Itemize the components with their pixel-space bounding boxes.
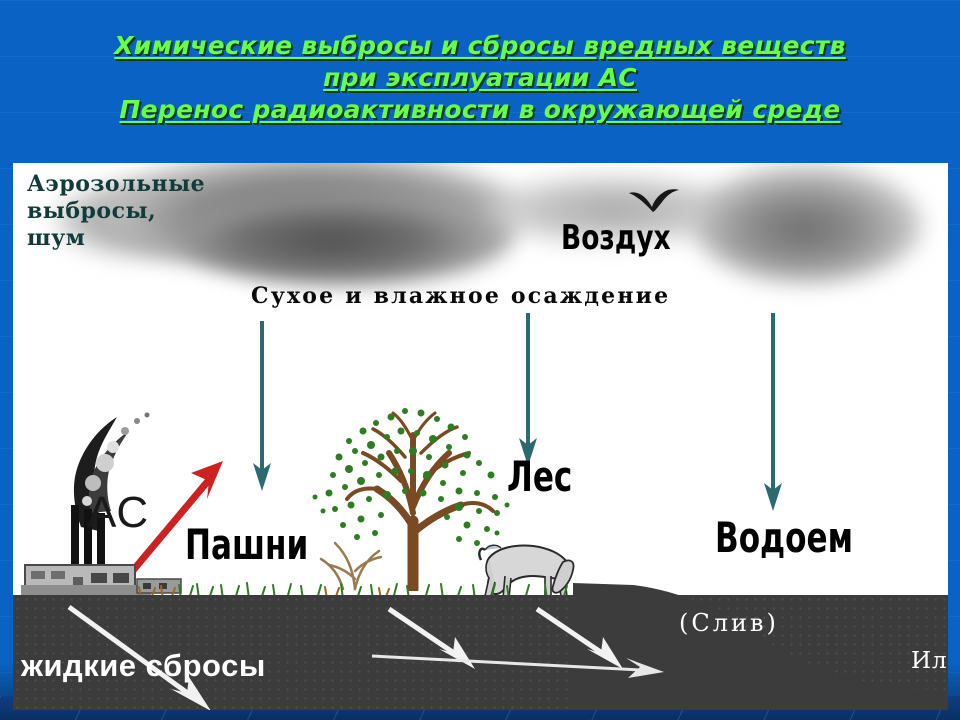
cloud-shape [693, 165, 923, 283]
label-water-body: Водоем [715, 513, 853, 562]
deposition-arrow-icon [760, 313, 786, 513]
deposition-arrow-icon [249, 321, 275, 493]
title-line-1: Химические выбросы и сбросы вредных веще… [0, 30, 960, 62]
slide-title: Химические выбросы и сбросы вредных веще… [0, 30, 960, 126]
bird-icon [627, 187, 681, 213]
diagram-image-panel: Аэрозольные выбросы, шум Воздух Сухое и … [13, 163, 948, 710]
cloud-shape [183, 188, 513, 284]
label-air: Воздух [561, 218, 671, 258]
label-dry-wet-deposition: Сухое и влажное осаждение [251, 283, 670, 309]
label-liquid-discharges: жидкие сбросы [21, 648, 266, 684]
title-line-3: Перенос радиоактивности в окружающей сре… [0, 94, 960, 126]
slide-canvas: Химические выбросы и сбросы вредных веще… [0, 0, 960, 720]
label-silt: Ил [911, 648, 948, 674]
label-arable-land: Пашни [185, 520, 308, 569]
groundwater-arrow-icon [368, 648, 678, 682]
label-aerosol-emissions: Аэрозольные выбросы, шум [27, 171, 205, 252]
label-discharge: (Слив) [679, 609, 779, 637]
label-forest: Лес [507, 452, 572, 501]
label-nuclear-plant: АС [87, 488, 149, 538]
title-line-2: при эксплуатации АС [0, 62, 960, 94]
